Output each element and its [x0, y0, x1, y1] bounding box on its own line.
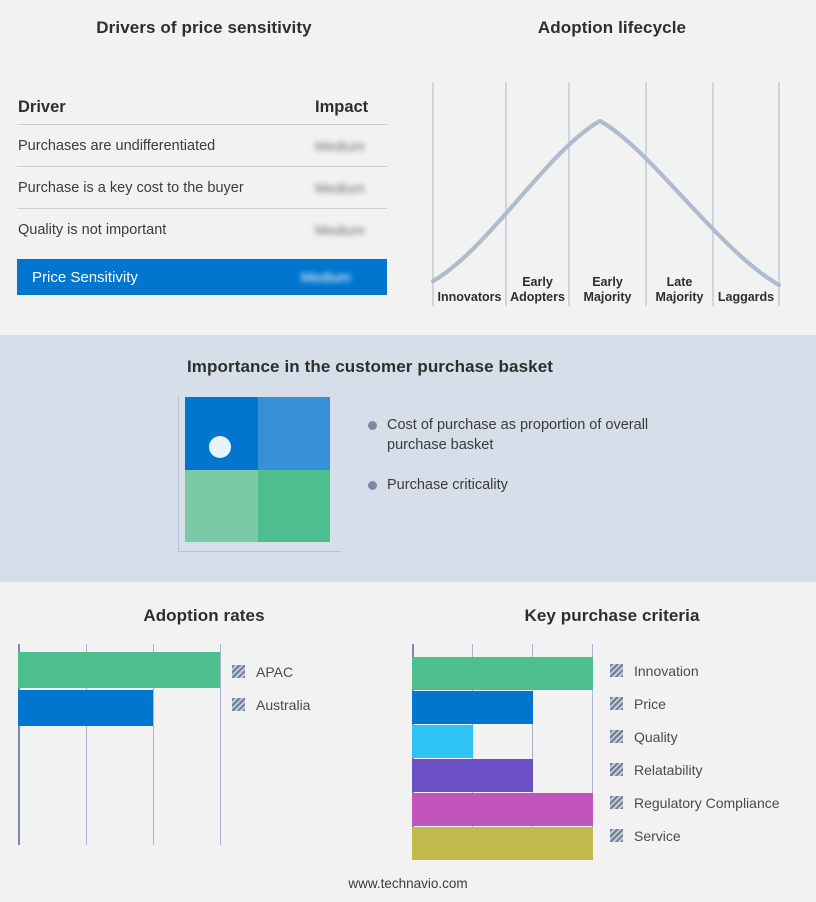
adoption-rates-plot	[0, 582, 408, 902]
table-row[interactable]: Purchase is a key cost to the buyer Medi…	[17, 167, 387, 209]
bar-service[interactable]	[412, 827, 593, 860]
lifecycle-bell-curve	[433, 121, 779, 285]
legend-item-quality[interactable]: Quality	[610, 720, 780, 753]
legend-label: Service	[634, 828, 681, 844]
bullet-label: Cost of purchase as proportion of overal…	[387, 415, 668, 455]
quadrant-y-axis	[178, 396, 179, 551]
stage-label-laggards: Laggards	[713, 290, 779, 305]
legend-item-innovation[interactable]: Innovation	[610, 654, 780, 687]
impact-value: Medium	[315, 222, 387, 238]
legend-swatch-icon	[232, 665, 245, 678]
legend-swatch-icon	[610, 763, 623, 776]
adoption-rates-legend: APAC Australia	[232, 655, 310, 721]
legend-swatch-icon	[610, 796, 623, 809]
adoption-lifecycle-panel: Adoption lifecycle Innovators Early Adop…	[408, 0, 816, 335]
importance-panel: Importance in the customer purchase bask…	[0, 335, 816, 582]
legend-label: Regulatory Compliance	[634, 795, 780, 811]
footer-url: www.technavio.com	[0, 876, 816, 891]
legend-swatch-icon	[610, 697, 623, 710]
stage-label-late-majority: Late Majority	[646, 275, 713, 305]
stage-label-early-majority: Early Majority	[569, 275, 646, 305]
list-item: Purchase criticality	[368, 475, 668, 495]
bullet-dot-icon	[368, 421, 377, 430]
importance-bullets: Cost of purchase as proportion of overal…	[368, 415, 668, 515]
impact-value: Medium	[315, 180, 387, 196]
legend-swatch-icon	[610, 730, 623, 743]
bullet-dot-icon	[368, 481, 377, 490]
lifecycle-gridlines	[433, 82, 779, 306]
price-sensitivity-highlight-row[interactable]: Price Sensitivity Medium	[17, 259, 387, 295]
legend-label: Innovation	[634, 663, 699, 679]
gridline-3	[220, 644, 221, 845]
legend-item-service[interactable]: Service	[610, 819, 780, 852]
legend-swatch-icon	[610, 829, 623, 842]
quadrant-position-marker	[209, 436, 231, 458]
bar-quality[interactable]	[412, 725, 473, 758]
bar-relatability[interactable]	[412, 759, 533, 792]
key-purchase-criteria-panel: Key purchase criteria Innovation Price Q…	[408, 582, 816, 902]
quadrant-matrix	[185, 397, 330, 542]
legend-label: Australia	[256, 697, 310, 713]
adoption-rates-panel: Adoption rates APAC Australia	[0, 582, 408, 902]
legend-item-price[interactable]: Price	[610, 687, 780, 720]
legend-label: Quality	[634, 729, 678, 745]
stage-label-early-adopters: Early Adopters	[506, 275, 569, 305]
key-purchase-criteria-legend: Innovation Price Quality Relatability Re…	[610, 654, 780, 852]
bar-innovation[interactable]	[412, 657, 593, 690]
driver-label: Purchases are undifferentiated	[17, 138, 315, 154]
legend-item-regulatory-compliance[interactable]: Regulatory Compliance	[610, 786, 780, 819]
legend-swatch-icon	[232, 698, 245, 711]
bullet-label: Purchase criticality	[387, 475, 508, 495]
bar-apac[interactable]	[18, 652, 220, 688]
legend-swatch-icon	[610, 664, 623, 677]
legend-item-relatability[interactable]: Relatability	[610, 753, 780, 786]
highlight-label: Price Sensitivity	[31, 269, 301, 286]
quadrant-bottom-right[interactable]	[258, 470, 331, 543]
legend-label: APAC	[256, 664, 293, 680]
drivers-table: Driver Impact Purchases are undifferenti…	[17, 90, 387, 295]
quadrant-bottom-left[interactable]	[185, 470, 258, 543]
list-item: Cost of purchase as proportion of overal…	[368, 415, 668, 455]
quadrant-top-left[interactable]	[185, 397, 258, 470]
column-header-driver: Driver	[17, 98, 315, 117]
legend-label: Relatability	[634, 762, 702, 778]
bar-regulatory-compliance[interactable]	[412, 793, 593, 826]
column-header-impact: Impact	[315, 98, 387, 117]
table-header-row: Driver Impact	[17, 90, 387, 125]
bar-price[interactable]	[412, 691, 533, 724]
importance-title: Importance in the customer purchase bask…	[60, 357, 680, 377]
impact-value: Medium	[315, 138, 387, 154]
bar-australia[interactable]	[18, 690, 153, 726]
stage-label-innovators: Innovators	[433, 290, 506, 305]
drivers-panel: Drivers of price sensitivity Driver Impa…	[0, 0, 408, 335]
driver-label: Purchase is a key cost to the buyer	[17, 180, 315, 196]
quadrant-x-axis	[178, 551, 341, 552]
legend-item-apac[interactable]: APAC	[232, 655, 310, 688]
legend-item-australia[interactable]: Australia	[232, 688, 310, 721]
table-row[interactable]: Quality is not important Medium	[17, 209, 387, 250]
driver-label: Quality is not important	[17, 222, 315, 238]
drivers-title: Drivers of price sensitivity	[0, 18, 408, 38]
table-row[interactable]: Purchases are undifferentiated Medium	[17, 125, 387, 167]
highlight-impact-value: Medium	[301, 269, 373, 285]
legend-label: Price	[634, 696, 666, 712]
quadrant-top-right[interactable]	[258, 397, 331, 470]
